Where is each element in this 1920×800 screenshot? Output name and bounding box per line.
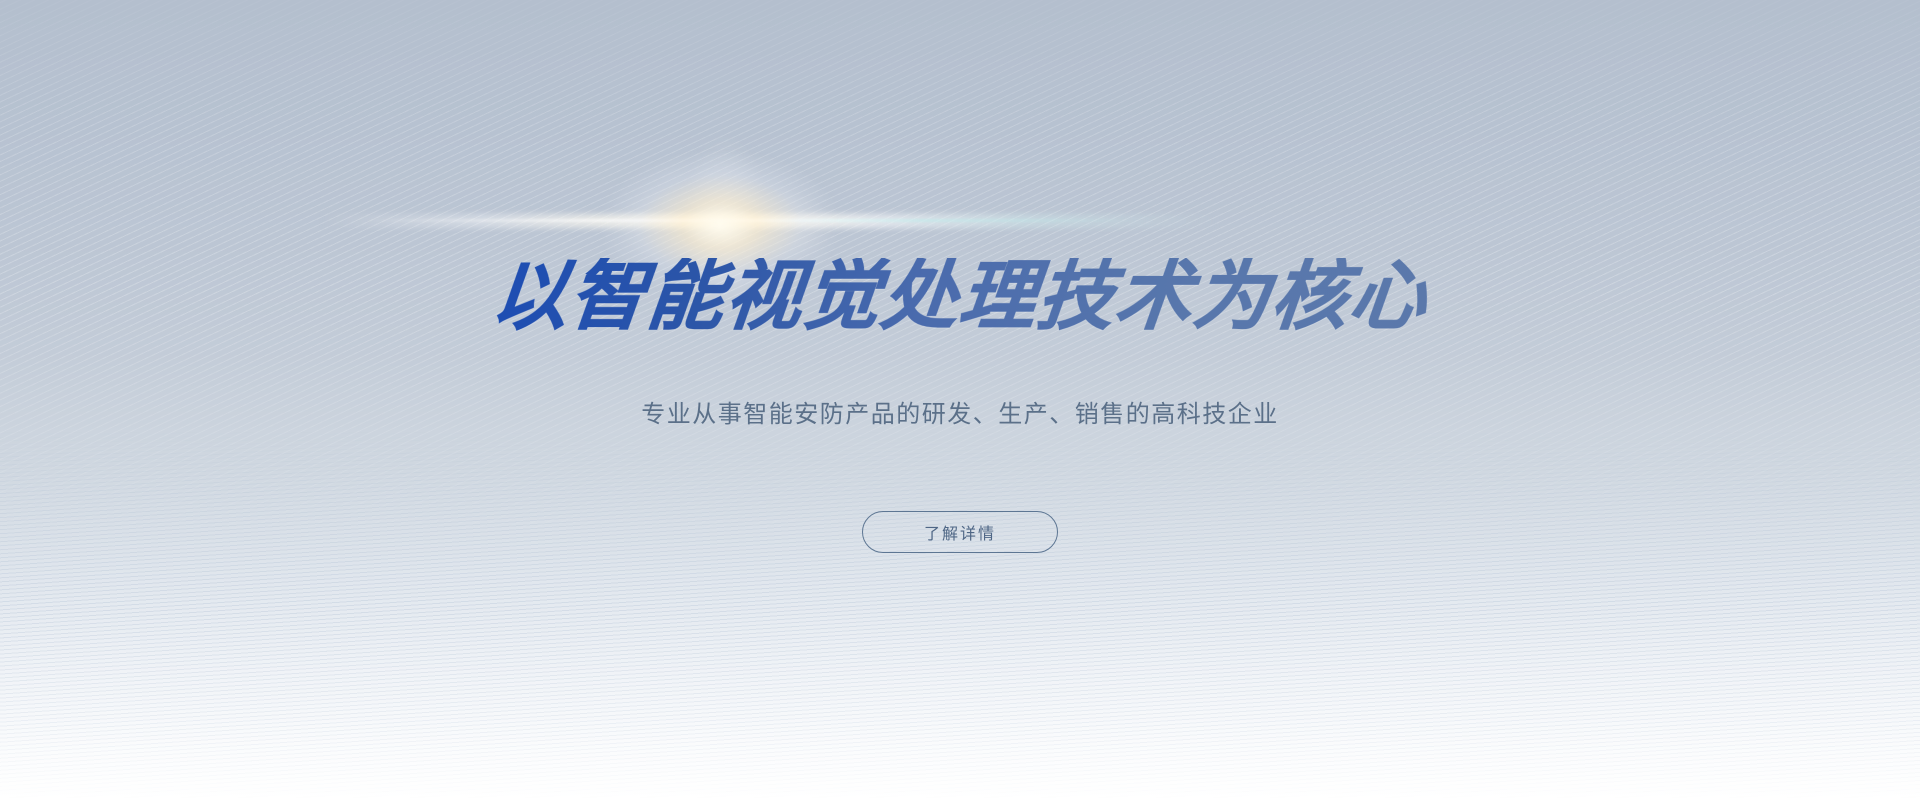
hero-banner: 以智能视觉处理技术为核心 专业从事智能安防产品的研发、生产、销售的高科技企业 了… [0,0,1920,800]
lens-flare-streak [320,214,1220,228]
wave-pattern-upper [0,0,1920,800]
diagonal-hairline-texture [0,0,1920,560]
hero-headline: 以智能视觉处理技术为核心 [0,258,1920,334]
cta-container: 了解详情 [0,511,1920,553]
wave-pattern-lower [0,0,1920,800]
hero-content: 以智能视觉处理技术为核心 专业从事智能安防产品的研发、生产、销售的高科技企业 了… [0,0,1920,800]
learn-more-button[interactable]: 了解详情 [862,511,1058,553]
lens-flare-rays [560,120,890,330]
lens-flare-core [600,150,840,300]
hero-subtitle: 专业从事智能安防产品的研发、生产、销售的高科技企业 [0,398,1920,432]
lens-flare-streak-core [360,219,1140,222]
horizontal-hairline-texture [0,430,1920,800]
